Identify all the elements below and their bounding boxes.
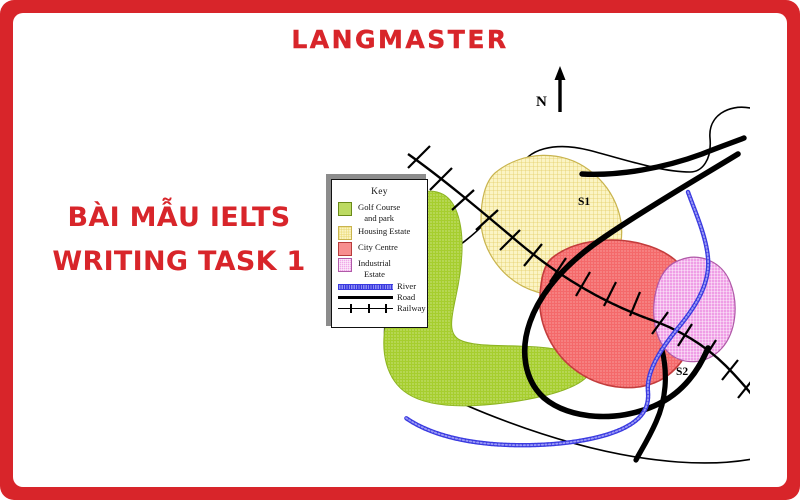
key-label-river: River — [397, 281, 416, 291]
station-s1-label: S1 — [578, 196, 590, 208]
key-row-river: River — [338, 281, 423, 292]
page-title: BÀI MẪU IELTS WRITING TASK 1 — [38, 196, 320, 284]
station-s2-label: S2 — [676, 366, 688, 378]
key-area-rows: Golf Course and park Housing Estate City… — [332, 201, 427, 314]
key-label-industrial-estate: Industrial Estate — [358, 257, 391, 280]
page-root: LANGMASTER BÀI MẪU IELTS WRITING TASK 1 — [0, 0, 800, 500]
key-title: Key — [332, 187, 427, 197]
city-centre-swatch — [338, 242, 352, 256]
key-label-city-centre: City Centre — [358, 241, 398, 252]
map-key-legend: Key Golf Course and park Housing Estate … — [326, 174, 430, 330]
key-label-golf-course: Golf Course and park — [358, 201, 400, 224]
north-arrow-icon — [555, 66, 566, 112]
key-label-railway: Railway — [397, 303, 426, 313]
housing-estate-swatch — [338, 226, 352, 240]
key-row-railway: Railway — [338, 303, 423, 314]
key-row-road: Road — [338, 292, 423, 303]
page-title-line-2: WRITING TASK 1 — [38, 240, 320, 284]
key-row-industrial-estate: Industrial Estate — [338, 257, 423, 280]
north-label: N — [536, 94, 547, 110]
key-label-housing-estate: Housing Estate — [358, 225, 410, 236]
key-box-panel: Key Golf Course and park Housing Estate … — [331, 179, 428, 328]
key-label-road: Road — [397, 292, 415, 302]
page-title-line-1: BÀI MẪU IELTS — [68, 202, 291, 233]
golf-course-swatch — [338, 202, 352, 216]
river-line-sample — [338, 281, 393, 292]
key-row-city-centre: City Centre — [338, 241, 423, 256]
industrial-estate-swatch — [338, 258, 352, 272]
key-row-housing-estate: Housing Estate — [338, 225, 423, 240]
road-line-sample — [338, 292, 393, 303]
railway-line-sample — [338, 303, 393, 314]
key-row-golf-course: Golf Course and park — [338, 201, 423, 224]
